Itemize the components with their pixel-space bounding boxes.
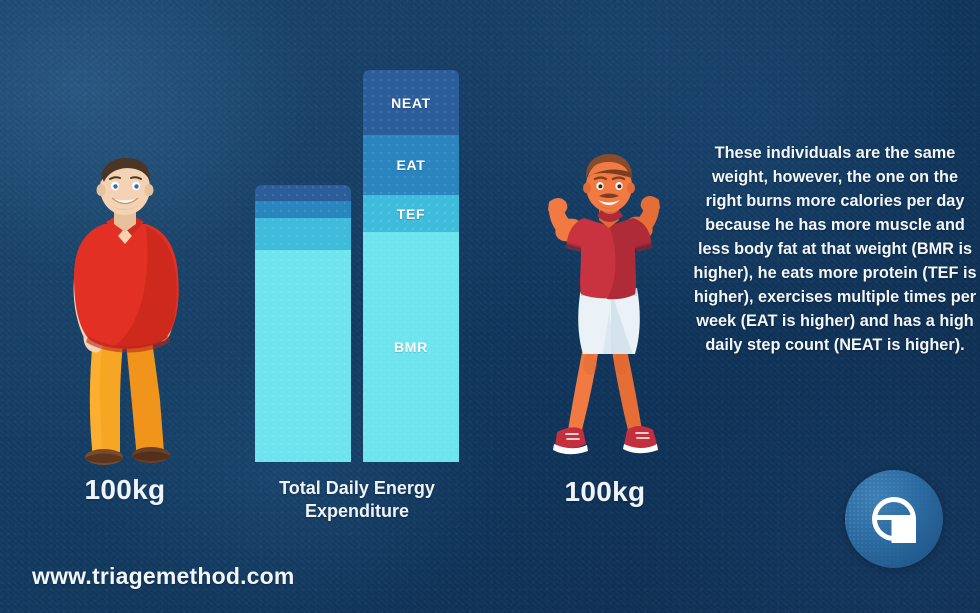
left-bar-segment-bmr bbox=[255, 250, 351, 462]
right-bar-segment-neat: NEAT bbox=[363, 70, 459, 135]
website-url: www.triagemethod.com bbox=[32, 563, 295, 590]
tdee-axis-caption: Total Daily Energy Expenditure bbox=[251, 477, 463, 523]
right-bar-segment-tef: TEF bbox=[363, 195, 459, 232]
explanation-paragraph: These individuals are the same weight, h… bbox=[692, 142, 978, 358]
left-bar bbox=[255, 185, 351, 462]
infographic-canvas: NEAT EAT TEF BMR bbox=[0, 0, 980, 613]
right-bar: NEAT EAT TEF BMR bbox=[363, 70, 459, 462]
right-bar-segment-bmr: BMR bbox=[363, 232, 459, 462]
right-bar-segment-eat: EAT bbox=[363, 135, 459, 195]
left-bar-segment-tef bbox=[255, 218, 351, 250]
left-weight-label: 100kg bbox=[50, 474, 200, 506]
left-bar-segment-neat bbox=[255, 185, 351, 201]
logo-t-circle-icon bbox=[866, 491, 922, 547]
triage-method-logo[interactable] bbox=[845, 470, 943, 568]
left-bar-segment-eat bbox=[255, 201, 351, 218]
right-weight-label: 100kg bbox=[530, 476, 680, 508]
overweight-man-illustration bbox=[48, 152, 200, 474]
muscular-man-flexing-illustration bbox=[535, 148, 685, 470]
